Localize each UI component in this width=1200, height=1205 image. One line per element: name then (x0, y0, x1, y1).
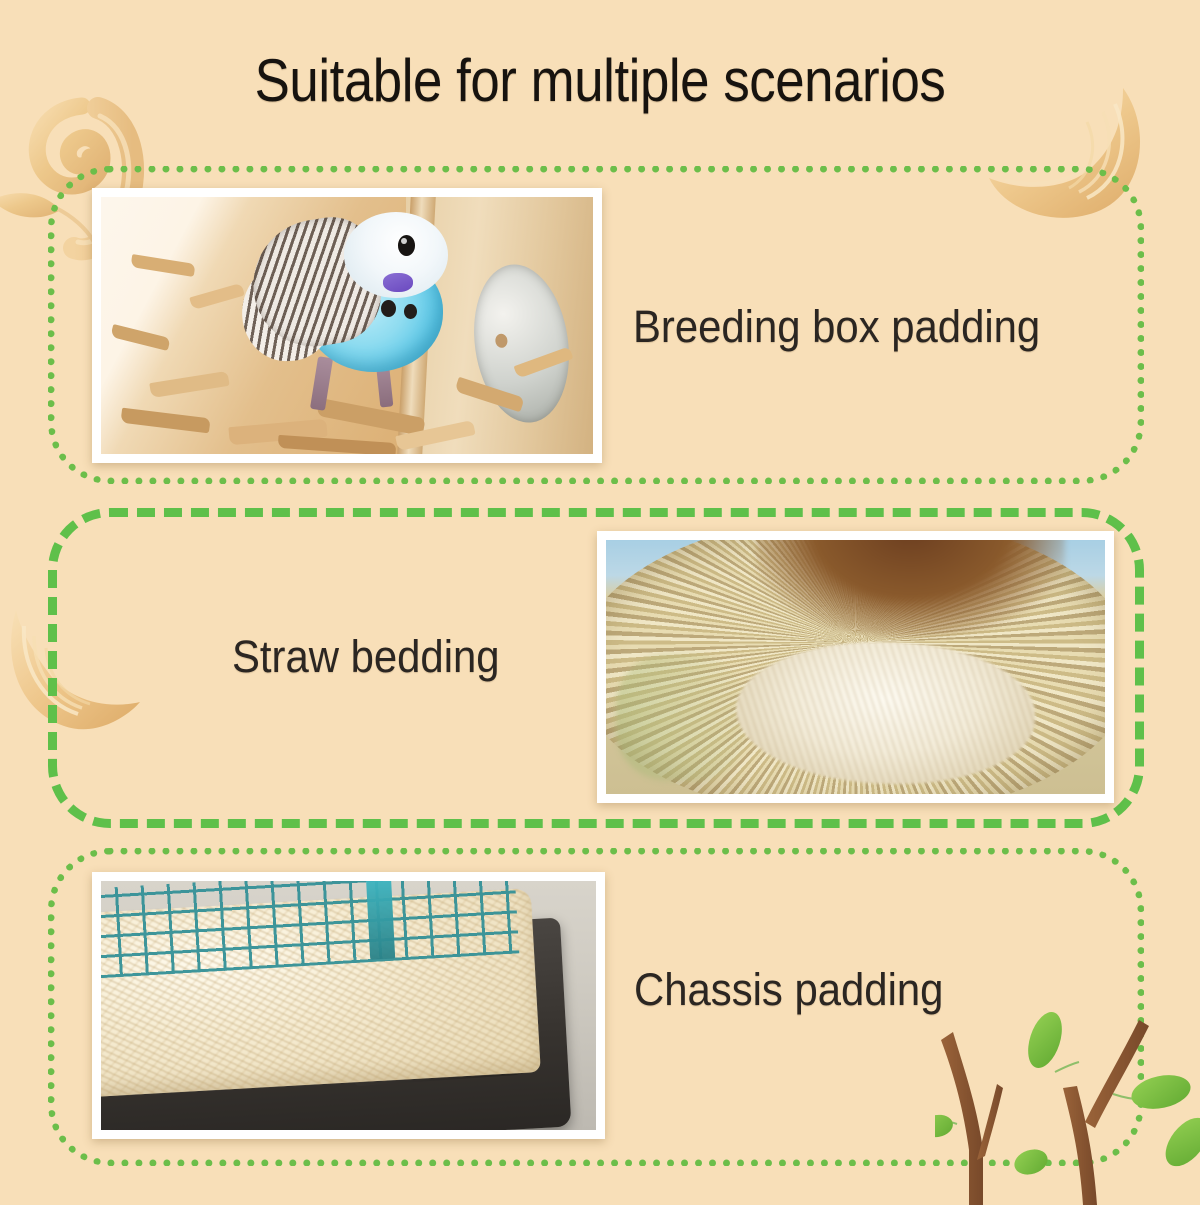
card-label-straw-bedding: Straw bedding (232, 630, 500, 684)
card-label-breeding-box-padding: Breeding box padding (633, 300, 1040, 354)
photo-breeding-box-padding (92, 188, 602, 463)
photo-chassis-padding (92, 872, 605, 1139)
photo-straw-bedding (597, 531, 1114, 803)
page-title: Suitable for multiple scenarios (72, 46, 1128, 116)
budgerigar-illustration (249, 205, 465, 395)
card-label-chassis-padding: Chassis padding (634, 963, 943, 1017)
infographic-canvas: Suitable for multiple scenarios (0, 0, 1200, 1200)
